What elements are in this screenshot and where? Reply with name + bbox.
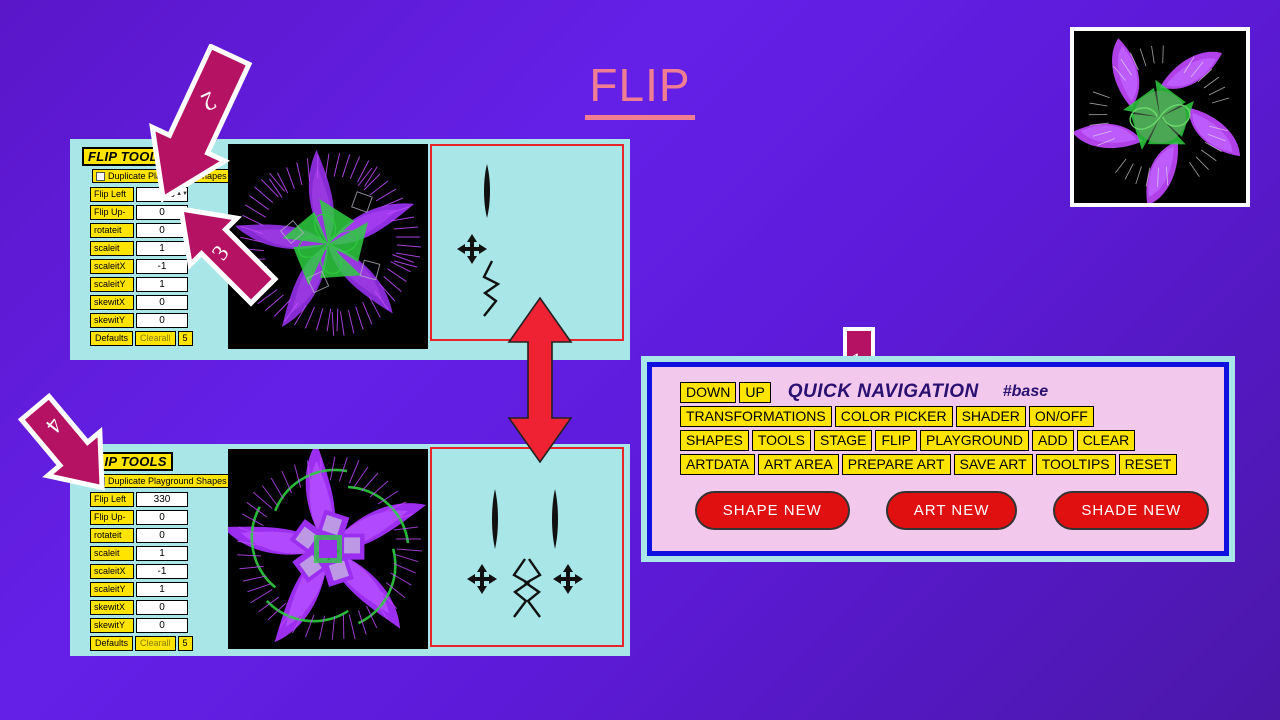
nav-button-art-area[interactable]: ART AREA bbox=[758, 454, 839, 475]
input-flip-left-bottom[interactable]: 330 bbox=[136, 492, 188, 507]
defaults-button-bottom[interactable]: Defaults bbox=[90, 636, 133, 651]
vertical-lens-stroke bbox=[484, 164, 490, 218]
quick-navigation-panel: DOWN UP QUICK NAVIGATION #base TRANSFORM… bbox=[641, 356, 1235, 562]
input-skewitx-bottom[interactable]: 0 bbox=[136, 600, 188, 615]
quick-nav-base-tag: #base bbox=[1003, 383, 1048, 401]
vertical-double-arrow-icon bbox=[505, 296, 575, 464]
field-row-flip-up-bottom[interactable]: Flip Up- 0 bbox=[90, 510, 232, 525]
shape-count-top: 5 bbox=[178, 331, 193, 346]
four-way-move-cursor bbox=[457, 234, 487, 264]
quick-nav-row-2: SHAPES TOOLS STAGE FLIP PLAYGROUND ADD C… bbox=[680, 430, 1224, 451]
label-skewitx-bottom[interactable]: skewitX bbox=[90, 600, 134, 615]
field-row-skewity-bottom[interactable]: skewitY 0 bbox=[90, 618, 232, 633]
zigzag-squiggle bbox=[484, 261, 498, 316]
label-scaleit-top[interactable]: scaleit bbox=[90, 241, 134, 256]
nav-button-tools[interactable]: TOOLS bbox=[752, 430, 811, 451]
input-skewity-bottom[interactable]: 0 bbox=[136, 618, 188, 633]
flip-tools-panel-bottom: FLIP TOOLS Duplicate Playground Shapes F… bbox=[70, 444, 630, 656]
input-rotateit-bottom[interactable]: 0 bbox=[136, 528, 188, 543]
input-flip-up-bottom[interactable]: 0 bbox=[136, 510, 188, 525]
four-way-move-cursor-left bbox=[467, 564, 497, 594]
label-flip-left-top[interactable]: Flip Left bbox=[90, 187, 134, 202]
nav-button-flip[interactable]: FLIP bbox=[875, 430, 917, 451]
input-scaleitx-bottom[interactable]: -1 bbox=[136, 564, 188, 579]
nav-button-shader[interactable]: SHADER bbox=[956, 406, 1026, 427]
label-scaleity-top[interactable]: scaleitY bbox=[90, 277, 134, 292]
defaults-button-top[interactable]: Defaults bbox=[90, 331, 133, 346]
nav-button-reset[interactable]: RESET bbox=[1119, 454, 1178, 475]
shade-new-button[interactable]: SHADE NEW bbox=[1053, 491, 1209, 530]
nav-button-up[interactable]: UP bbox=[739, 382, 770, 403]
generative-art-thumbnail[interactable] bbox=[1070, 27, 1250, 207]
quick-nav-action-row: SHAPE NEW ART NEW SHADE NEW bbox=[680, 491, 1224, 530]
label-rotateit-bottom[interactable]: rotateit bbox=[90, 528, 134, 543]
flip-tools-footer-bottom: Defaults Clearall 5 bbox=[90, 636, 232, 651]
nav-button-clear[interactable]: CLEAR bbox=[1077, 430, 1136, 451]
generative-spiral-art-bottom bbox=[228, 449, 428, 649]
label-scaleitx-top[interactable]: scaleitX bbox=[90, 259, 134, 274]
quick-nav-heading: QUICK NAVIGATION bbox=[788, 381, 979, 403]
nav-button-tooltips[interactable]: TOOLTIPS bbox=[1036, 454, 1116, 475]
quick-navigation-inner: DOWN UP QUICK NAVIGATION #base TRANSFORM… bbox=[647, 362, 1229, 556]
label-rotateit-top[interactable]: rotateit bbox=[90, 223, 134, 238]
input-scaleity-bottom[interactable]: 1 bbox=[136, 582, 188, 597]
playground-shapes-bottom bbox=[432, 449, 618, 641]
art-canvas-bottom[interactable] bbox=[228, 449, 428, 649]
annotation-arrow-4 bbox=[6, 392, 131, 507]
label-flip-up-bottom[interactable]: Flip Up- bbox=[90, 510, 134, 525]
quick-nav-header-row: DOWN UP QUICK NAVIGATION #base bbox=[680, 381, 1224, 403]
label-scaleity-bottom[interactable]: scaleitY bbox=[90, 582, 134, 597]
vertical-lens-stroke-left bbox=[492, 489, 498, 549]
nav-button-add[interactable]: ADD bbox=[1032, 430, 1074, 451]
nav-button-on-off[interactable]: ON/OFF bbox=[1029, 406, 1094, 427]
page-title-text: FLIP bbox=[585, 59, 694, 120]
label-scaleitx-bottom[interactable]: scaleitX bbox=[90, 564, 134, 579]
label-flip-up-top[interactable]: Flip Up- bbox=[90, 205, 134, 220]
quick-nav-row-3: ARTDATA ART AREA PREPARE ART SAVE ART TO… bbox=[680, 454, 1224, 475]
quick-nav-row-1: TRANSFORMATIONS COLOR PICKER SHADER ON/O… bbox=[680, 406, 1224, 427]
checkbox-icon[interactable] bbox=[96, 172, 105, 181]
field-row-skewitx-bottom[interactable]: skewitX 0 bbox=[90, 600, 232, 615]
label-skewity-bottom[interactable]: skewitY bbox=[90, 618, 134, 633]
flip-tools-footer-top: Defaults Clearall 5 bbox=[90, 331, 232, 346]
nav-button-transformations[interactable]: TRANSFORMATIONS bbox=[680, 406, 832, 427]
playground-bottom[interactable] bbox=[430, 447, 624, 647]
nav-button-prepare-art[interactable]: PREPARE ART bbox=[842, 454, 951, 475]
clearall-button-top[interactable]: Clearall bbox=[135, 331, 176, 346]
field-row-scaleitx-bottom[interactable]: scaleitX -1 bbox=[90, 564, 232, 579]
zigzag-squiggle-right bbox=[526, 559, 540, 617]
label-scaleit-bottom[interactable]: scaleit bbox=[90, 546, 134, 561]
nav-button-stage[interactable]: STAGE bbox=[814, 430, 872, 451]
nav-button-shapes[interactable]: SHAPES bbox=[680, 430, 749, 451]
nav-button-save-art[interactable]: SAVE ART bbox=[954, 454, 1033, 475]
nav-button-playground[interactable]: PLAYGROUND bbox=[920, 430, 1029, 451]
field-row-scaleit-bottom[interactable]: scaleit 1 bbox=[90, 546, 232, 561]
shape-new-button[interactable]: SHAPE NEW bbox=[695, 491, 850, 530]
field-row-rotateit-bottom[interactable]: rotateit 0 bbox=[90, 528, 232, 543]
art-new-button[interactable]: ART NEW bbox=[886, 491, 1018, 530]
input-scaleit-bottom[interactable]: 1 bbox=[136, 546, 188, 561]
shape-count-bottom: 5 bbox=[178, 636, 193, 651]
vertical-lens-stroke-right bbox=[552, 489, 558, 549]
four-way-move-cursor-right bbox=[553, 564, 583, 594]
clearall-button-bottom[interactable]: Clearall bbox=[135, 636, 176, 651]
nav-button-artdata[interactable]: ARTDATA bbox=[680, 454, 755, 475]
thumbnail-artwork bbox=[1074, 31, 1246, 203]
label-skewitx-top[interactable]: skewitX bbox=[90, 295, 134, 310]
field-row-scaleity-bottom[interactable]: scaleitY 1 bbox=[90, 582, 232, 597]
zigzag-squiggle-left bbox=[514, 559, 528, 617]
nav-button-color-picker[interactable]: COLOR PICKER bbox=[835, 406, 953, 427]
label-skewity-top[interactable]: skewitY bbox=[90, 313, 134, 328]
nav-button-down[interactable]: DOWN bbox=[680, 382, 736, 403]
